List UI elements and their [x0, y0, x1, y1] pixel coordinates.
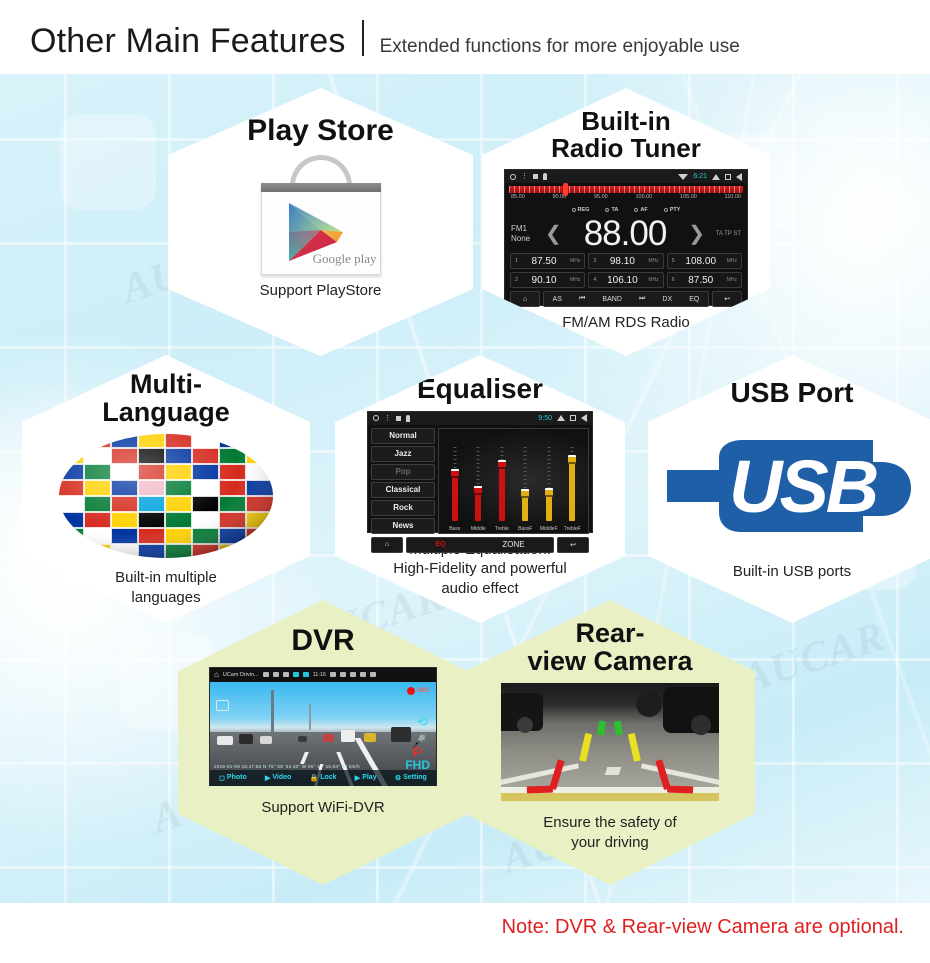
sd-card-icon	[263, 672, 269, 677]
page-title: Other Main Features	[30, 22, 346, 61]
rotate-camera-icon[interactable]: ⟲	[417, 714, 428, 730]
power-icon	[373, 415, 379, 421]
scale-tick: 100.00	[635, 194, 652, 200]
scale-tick: 105.00	[680, 194, 697, 200]
tile-caption-line2: High-Fidelity and powerful	[393, 559, 566, 579]
preset-button[interactable]: 687.50MHz	[667, 272, 742, 288]
rds-option-ta[interactable]: TA	[605, 207, 618, 213]
tile-caption-line1: Ensure the safety of	[543, 813, 676, 833]
usb-pin-icon	[543, 173, 547, 180]
usb-pin-icon	[406, 415, 410, 422]
dvr-screen[interactable]: ⌂ UCam Drivin... 11:16	[209, 667, 437, 786]
back-icon[interactable]	[370, 672, 376, 677]
recents-icon[interactable]	[725, 174, 731, 180]
preset-button[interactable]: 398.10MHz	[588, 253, 663, 269]
status-clock: 11:16	[313, 672, 326, 678]
frequency-row: FM1 None ❮ 88.00 ❯ TA TP ST	[505, 215, 747, 253]
lock-label: Lock	[320, 774, 336, 781]
menu-dots-icon: ⋮	[521, 173, 528, 180]
guideline-red-right-foot	[667, 786, 693, 794]
slider-label: TrebleF	[564, 526, 581, 532]
preset-value: 98.10	[600, 256, 644, 267]
guideline-red-left-foot	[527, 786, 553, 794]
preset-value: 87.50	[522, 256, 566, 267]
android-status-bar: ⋮ 9:50	[368, 412, 592, 425]
wifi-icon	[678, 174, 688, 180]
eq-zone-bar: EQ ZONE	[406, 537, 554, 553]
bag-top-edge	[261, 183, 381, 192]
back-icon[interactable]	[736, 173, 742, 181]
rds-tags: TA TP ST	[705, 231, 741, 237]
tile-caption: Support PlayStore	[260, 281, 382, 301]
mic-icon	[283, 672, 289, 677]
preset-grid: 187.50MHz 398.10MHz 5108.00MHz 290.10MHz…	[505, 253, 747, 288]
cloud-icon	[273, 672, 279, 677]
light-pole	[271, 690, 274, 734]
eq-tab[interactable]: EQ	[435, 541, 445, 548]
rds-option-pty[interactable]: PTY	[664, 207, 681, 213]
flag-globe-icon	[57, 432, 275, 560]
band-button[interactable]: BAND	[602, 296, 621, 303]
scale-tick: 85.00	[511, 194, 525, 200]
band-indicator: FM1 None	[511, 224, 545, 242]
preset-unit: MHz	[727, 277, 737, 283]
eq-preset-list: Normal Jazz Pop Classical Rock News	[371, 428, 435, 534]
preset-number: 1	[515, 258, 518, 264]
vehicle	[260, 736, 272, 744]
tile-title: DVR	[291, 626, 354, 657]
band-name: FM1	[511, 224, 545, 233]
sign-pole	[309, 704, 311, 730]
eq-preset-rock[interactable]: Rock	[371, 500, 435, 516]
eq-preset-pop[interactable]: Pop	[371, 464, 435, 480]
slider-label: Middle	[471, 526, 486, 532]
tile-caption: Built-in multiple languages	[115, 568, 217, 608]
video-label: Video	[272, 774, 291, 781]
radio-functions: AS ⏮ BAND ⏭ DX EQ	[543, 291, 709, 307]
recents-icon[interactable]	[570, 415, 576, 421]
usb-wordmark: USB	[729, 450, 876, 524]
eq-slider-graph: Bass Middle Treble	[438, 428, 589, 534]
camera-icon[interactable]	[330, 672, 336, 677]
scale-tick: 95.00	[594, 194, 608, 200]
wheel	[636, 691, 662, 717]
status-clock: 9:50	[538, 415, 552, 422]
tile-title: USB Port	[731, 379, 854, 408]
preset-value: 106.10	[600, 275, 644, 286]
home-icon[interactable]: ⌂	[214, 670, 219, 679]
next-station-button[interactable]: ❯	[688, 221, 705, 246]
bay-line-right	[641, 763, 719, 787]
next-track-icon[interactable]: ⏭	[639, 295, 645, 303]
battery-icon	[293, 672, 299, 677]
eq-slider-bass-f[interactable]: BassF	[521, 447, 530, 521]
wheel	[517, 717, 533, 733]
option-label: REG	[578, 207, 590, 213]
screenshot-icon[interactable]	[350, 672, 356, 677]
usb-logo-icon: USB	[667, 436, 917, 540]
slider-label: Bass	[449, 526, 460, 532]
tile-caption: Built-in USB ports	[733, 562, 851, 582]
up-arrow-icon	[557, 415, 565, 421]
google-play-wordmark: Google play	[257, 251, 377, 267]
vehicle	[298, 736, 307, 742]
eq-slider-treble-f[interactable]: TrebleF	[568, 447, 577, 521]
rds-option-af[interactable]: AF	[634, 207, 647, 213]
tile-title-line2: Radio Tuner	[551, 135, 701, 162]
option-label: AF	[640, 207, 647, 213]
preset-number: 6	[672, 277, 675, 283]
back-icon[interactable]	[581, 414, 587, 422]
guideline-yellow-right	[627, 733, 640, 762]
dvr-app-title: UCam Drivin...	[223, 672, 259, 678]
vehicle	[323, 734, 334, 742]
preset-value: 108.00	[679, 256, 723, 267]
rear-camera-view	[501, 683, 719, 801]
google-play-bag-icon: Google play	[257, 155, 385, 275]
tile-title: Multi- Language	[102, 371, 230, 426]
home-button[interactable]: ⌂	[371, 537, 403, 553]
ground-marking	[604, 767, 621, 775]
preset-number: 3	[593, 258, 596, 264]
wifi-icon	[303, 672, 309, 677]
menu-dots-icon: ⋮	[384, 415, 391, 422]
photo-button[interactable]: ◻Photo	[219, 774, 247, 782]
dvr-timestamp-overlay: 2018-01-09 16:47:52 N 76° 55' 54.30" W 0…	[214, 764, 360, 769]
rec-label: REC	[417, 688, 430, 694]
prev-track-icon[interactable]: ⏮	[579, 295, 585, 303]
preset-button[interactable]: 187.50MHz	[510, 253, 585, 269]
eq-slider-treble[interactable]: Treble	[497, 447, 506, 521]
tile-title: Play Store	[247, 116, 394, 147]
tile-caption: Support WiFi-DVR	[261, 798, 384, 818]
tile-caption-line1: Built-in multiple	[115, 568, 217, 588]
tuner-needle[interactable]	[563, 183, 568, 196]
page-header: Other Main Features Extended functions f…	[0, 0, 930, 74]
preset-unit: MHz	[648, 258, 658, 264]
video-button[interactable]: ▶Video	[265, 774, 291, 782]
page-subtitle: Extended functions for more enjoyable us…	[380, 36, 740, 58]
radio-screen[interactable]: ⋮ 6:21 85.00 90.00 95.00 100.00	[504, 169, 748, 306]
preset-unit: MHz	[727, 258, 737, 264]
dvr-camera-view: REC ⟲ 🎤 P FHD 2018-01-09 16:47:52 N 76° …	[210, 682, 436, 786]
rds-option-reg[interactable]: REG	[572, 207, 590, 213]
preset-number: 2	[515, 277, 518, 283]
power-icon	[510, 174, 516, 180]
eq-preset-news[interactable]: News	[371, 518, 435, 534]
preset-number: 5	[672, 258, 675, 264]
vehicle	[239, 734, 253, 744]
optional-features-note: Note: DVR & Rear-view Camera are optiona…	[502, 916, 904, 939]
preset-number: 4	[593, 277, 596, 283]
header-divider	[362, 20, 364, 56]
status-clock: 6:21	[693, 173, 707, 180]
eq-slider-bass[interactable]: Bass	[450, 447, 459, 521]
guideline-green-left	[597, 721, 606, 736]
option-label: PTY	[670, 207, 681, 213]
preset-button[interactable]: 5108.00MHz	[667, 253, 742, 269]
curb-line	[501, 793, 719, 801]
apps-icon[interactable]	[360, 672, 366, 677]
setting-label: Setting	[403, 774, 427, 781]
back-button[interactable]: ↩	[557, 537, 589, 553]
dvr-status-bar: ⌂ UCam Drivin... 11:16	[210, 668, 436, 682]
vehicle	[217, 736, 233, 745]
tile-title: Equaliser	[417, 375, 543, 404]
eq-preset-normal[interactable]: Normal	[371, 428, 435, 444]
frequency-scale[interactable]: 85.00 90.00 95.00 100.00 105.00 110.00	[509, 186, 743, 206]
android-status-bar: ⋮ 6:21	[505, 170, 747, 183]
equaliser-toolbar: ⌂ EQ ZONE ↩	[368, 537, 592, 556]
tile-caption-line2: your driving	[543, 833, 676, 853]
preset-unit: MHz	[570, 277, 580, 283]
photo-label: Photo	[227, 774, 247, 781]
app-icon	[533, 174, 538, 179]
guideline-yellow-left	[580, 733, 593, 762]
tile-title-line2: view Camera	[527, 648, 692, 676]
play-label: Play	[362, 774, 376, 781]
volume-icon[interactable]	[340, 672, 346, 677]
preset-value: 87.50	[679, 275, 723, 286]
scale-tick: 110.00	[725, 194, 741, 200]
preset-value: 90.10	[522, 275, 566, 286]
up-arrow-icon	[712, 174, 720, 180]
equaliser-screen[interactable]: ⋮ 9:50 Normal Jazz Pop Classical Rock Ne…	[367, 411, 593, 533]
recording-indicator: REC	[407, 687, 430, 695]
preset-button[interactable]: 290.10MHz	[510, 272, 585, 288]
scale-bar	[509, 186, 743, 193]
eq-slider-middle-f[interactable]: MiddleF	[544, 447, 553, 521]
option-label: TA	[611, 207, 618, 213]
dx-button[interactable]: DX	[662, 296, 672, 303]
vehicle	[341, 730, 355, 742]
tile-title: Built-in Radio Tuner	[551, 108, 701, 161]
eq-button[interactable]: EQ	[689, 296, 699, 303]
equaliser-body: Normal Jazz Pop Classical Rock News Bass	[368, 425, 592, 537]
dvr-toolbar: ◻Photo ▶Video 🔒Lock ▶Play ⚙Setting	[210, 770, 436, 786]
wheel	[691, 715, 711, 735]
record-dot-icon	[407, 687, 415, 695]
prev-station-button[interactable]: ❮	[545, 221, 562, 246]
app-icon	[396, 416, 401, 421]
preset-unit: MHz	[570, 258, 580, 264]
gallery-icon[interactable]	[216, 700, 229, 711]
tile-caption-line2: languages	[115, 588, 217, 608]
band-sub: None	[511, 234, 545, 243]
tile-caption: Ensure the safety of your driving	[543, 813, 676, 853]
play-button[interactable]: ▶Play	[355, 774, 377, 782]
eq-preset-classical[interactable]: Classical	[371, 482, 435, 498]
bay-line-left	[501, 763, 579, 787]
preset-button[interactable]: 4106.10MHz	[588, 272, 663, 288]
slider-label: Treble	[495, 526, 509, 532]
vehicle	[391, 727, 411, 742]
setting-button[interactable]: ⚙Setting	[395, 774, 427, 782]
tile-caption: FM/AM RDS Radio	[562, 313, 690, 333]
eq-slider-middle[interactable]: Middle	[474, 447, 483, 521]
slider-label: BassF	[518, 526, 532, 532]
current-frequency: 88.00	[562, 216, 688, 251]
guideline-green-right	[614, 721, 623, 736]
tile-title-line2: Language	[102, 399, 230, 427]
zone-tab[interactable]: ZONE	[502, 540, 524, 549]
preset-unit: MHz	[648, 277, 658, 283]
lock-button[interactable]: 🔒Lock	[310, 774, 337, 782]
scale-tick-labels: 85.00 90.00 95.00 100.00 105.00 110.00	[509, 193, 743, 200]
eq-preset-jazz[interactable]: Jazz	[371, 446, 435, 462]
slider-label: MiddleF	[540, 526, 558, 532]
as-button[interactable]: AS	[553, 296, 562, 303]
radio-toolbar: ⌂ AS ⏮ BAND ⏭ DX EQ ↩	[505, 288, 747, 311]
vehicle	[364, 733, 376, 742]
